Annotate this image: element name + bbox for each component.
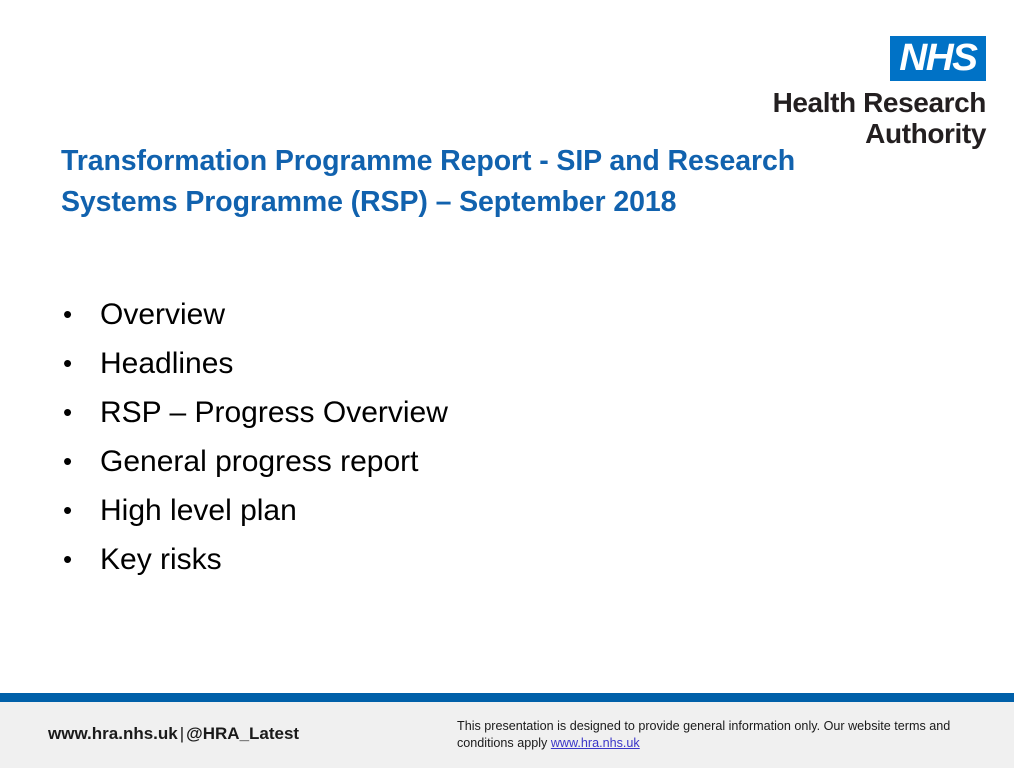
org-name-line-1: Health Research [756, 87, 986, 118]
footer-website[interactable]: www.hra.nhs.uk [48, 724, 178, 743]
list-item: Key risks [58, 535, 858, 584]
list-item: High level plan [58, 486, 858, 535]
footer-disclaimer: This presentation is designed to provide… [457, 718, 997, 752]
footer-divider [0, 693, 1014, 702]
agenda-list: Overview Headlines RSP – Progress Overvi… [58, 290, 858, 584]
nhs-wordmark: NHS [900, 39, 977, 77]
nhs-hra-logo: NHS Health Research Authority [756, 36, 986, 149]
page-title: Transformation Programme Report - SIP an… [61, 141, 891, 223]
list-item: Headlines [58, 339, 858, 388]
list-item: General progress report [58, 437, 858, 486]
footer-contact: www.hra.nhs.uk|@HRA_Latest [48, 723, 299, 745]
disclaimer-text: This presentation is designed to provide… [457, 719, 950, 750]
list-item: Overview [58, 290, 858, 339]
list-item: RSP – Progress Overview [58, 388, 858, 437]
footer-social-handle[interactable]: @HRA_Latest [186, 724, 299, 743]
slide: NHS Health Research Authority Transforma… [0, 0, 1024, 768]
footer-separator: | [178, 724, 186, 743]
nhs-logo-box: NHS [890, 36, 986, 81]
disclaimer-link[interactable]: www.hra.nhs.uk [551, 736, 640, 750]
